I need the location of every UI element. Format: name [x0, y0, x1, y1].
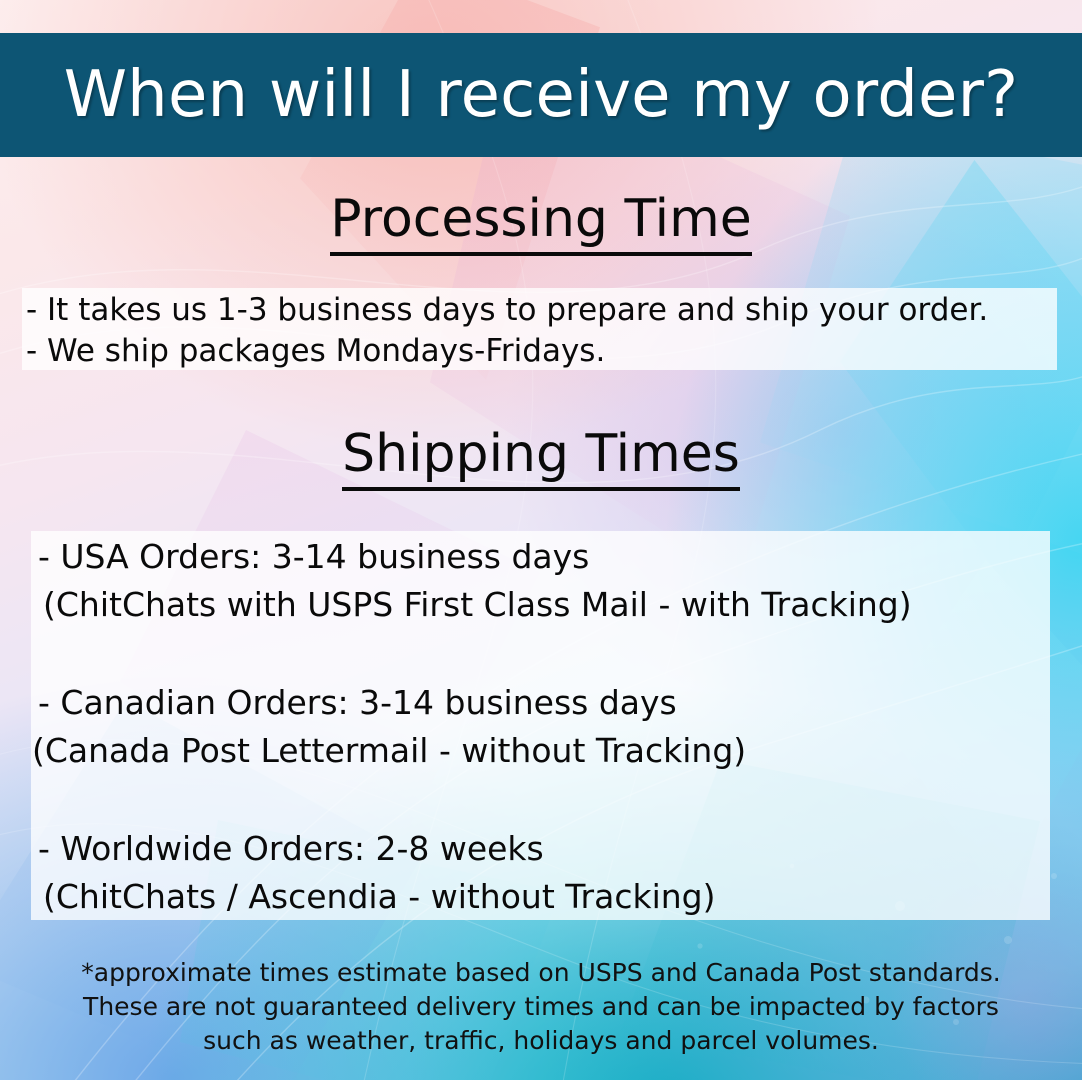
shipping-group-usa-line-1: - USA Orders: 3-14 business days	[36, 533, 912, 581]
footer-disclaimer: *approximate times estimate based on USP…	[0, 956, 1082, 1058]
shipping-group-usa-line-2: (ChitChats with USPS First Class Mail - …	[36, 581, 912, 629]
header-banner: When will I receive my order?	[0, 33, 1082, 157]
footer-disclaimer-line: *approximate times estimate based on USP…	[0, 956, 1082, 990]
processing-time-text-block: - It takes us 1-3 business days to prepa…	[26, 290, 1056, 372]
section-heading-processing-time: Processing Time	[0, 193, 1082, 245]
processing-time-line: - It takes us 1-3 business days to prepa…	[26, 290, 1056, 331]
footer-disclaimer-line: These are not guaranteed delivery times …	[0, 990, 1082, 1024]
shipping-group-worldwide: - Worldwide Orders: 2-8 weeks (ChitChats…	[36, 825, 716, 921]
section-heading-processing-time-text: Processing Time	[330, 189, 751, 256]
shipping-group-canada: - Canadian Orders: 3-14 business days (C…	[32, 679, 746, 775]
graphic-canvas: When will I receive my order? Processing…	[0, 0, 1082, 1080]
shipping-group-canada-line-1: - Canadian Orders: 3-14 business days	[32, 679, 746, 727]
shipping-group-worldwide-line-1: - Worldwide Orders: 2-8 weeks	[36, 825, 716, 873]
shipping-group-usa: - USA Orders: 3-14 business days (ChitCh…	[36, 533, 912, 629]
section-heading-shipping-times: Shipping Times	[0, 428, 1082, 480]
page-title: When will I receive my order?	[64, 63, 1019, 127]
shipping-group-canada-line-2: (Canada Post Lettermail - without Tracki…	[32, 727, 746, 775]
section-heading-shipping-times-text: Shipping Times	[342, 424, 740, 491]
shipping-group-worldwide-line-2: (ChitChats / Ascendia - without Tracking…	[36, 873, 716, 921]
processing-time-line: - We ship packages Mondays-Fridays.	[26, 331, 1056, 372]
footer-disclaimer-line: such as weather, traffic, holidays and p…	[0, 1024, 1082, 1058]
